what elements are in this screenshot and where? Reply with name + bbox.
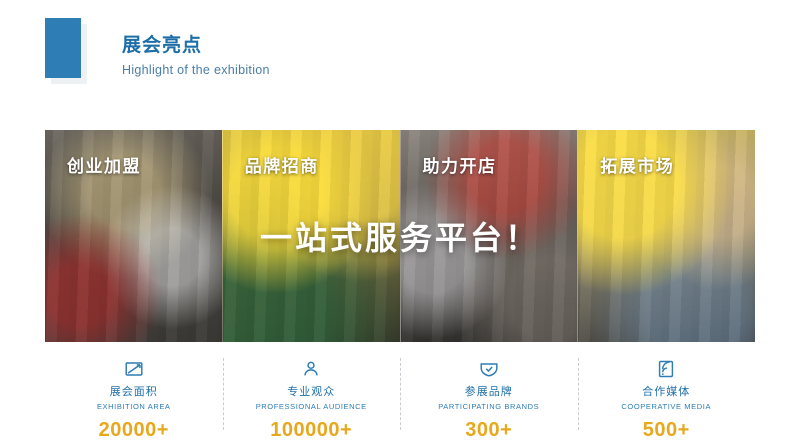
stat-value: 20000+ <box>99 418 169 442</box>
stat-label-cn: 合作媒体 <box>642 385 690 399</box>
photo-panel-4: 拓展市场 <box>577 130 755 342</box>
stat-professional-audience: 专业观众 PROFESSIONAL AUDIENCE 100000+ <box>223 356 401 436</box>
stat-cooperative-media: 合作媒体 COOPERATIVE MEDIA 500+ <box>578 356 756 436</box>
stat-label-cn: 参展品牌 <box>465 385 513 399</box>
accent-bar <box>45 18 81 78</box>
stat-label-cn: 专业观众 <box>287 385 335 399</box>
photo-panel-4-label: 拓展市场 <box>600 152 674 177</box>
photo-panel-3: 助力开店 <box>400 130 578 342</box>
photo-panel-2-label: 品牌招商 <box>245 152 319 177</box>
slide-header: 展会亮点 Highlight of the exhibition <box>0 0 800 110</box>
photo-panel-3-label: 助力开店 <box>423 152 497 177</box>
page-title-en: Highlight of the exhibition <box>122 62 270 78</box>
stat-label-en: PARTICIPATING BRANDS <box>438 402 539 412</box>
professional-audience-icon <box>300 358 322 380</box>
stats-row: 展会面积 EXHIBITION AREA 20000+ 专业观众 PROFESS… <box>45 356 755 436</box>
photo-strip: 创业加盟 品牌招商 助力开店 拓展市场 一站式服务平台！ <box>45 130 755 342</box>
photo-panel-1: 创业加盟 <box>45 130 222 342</box>
cooperative-media-icon <box>655 358 677 380</box>
page-title: 展会亮点 Highlight of the exhibition <box>122 34 270 78</box>
stat-value: 100000+ <box>270 418 352 442</box>
stat-label-en: PROFESSIONAL AUDIENCE <box>256 402 367 412</box>
stat-exhibition-area: 展会面积 EXHIBITION AREA 20000+ <box>45 356 223 436</box>
stat-value: 300+ <box>465 418 512 442</box>
stat-label-en: EXHIBITION AREA <box>97 402 171 412</box>
stat-value: 500+ <box>643 418 690 442</box>
stat-label-cn: 展会面积 <box>110 385 158 399</box>
page-title-cn: 展会亮点 <box>122 34 270 58</box>
exhibition-area-icon <box>123 358 145 380</box>
photo-panel-2: 品牌招商 <box>222 130 400 342</box>
slide: 展会亮点 Highlight of the exhibition 创业加盟 品牌… <box>0 0 800 448</box>
photo-panel-1-label: 创业加盟 <box>67 152 141 177</box>
stat-participating-brands: 参展品牌 PARTICIPATING BRANDS 300+ <box>400 356 578 436</box>
participating-brands-icon <box>478 358 500 380</box>
stat-label-en: COOPERATIVE MEDIA <box>621 402 711 412</box>
